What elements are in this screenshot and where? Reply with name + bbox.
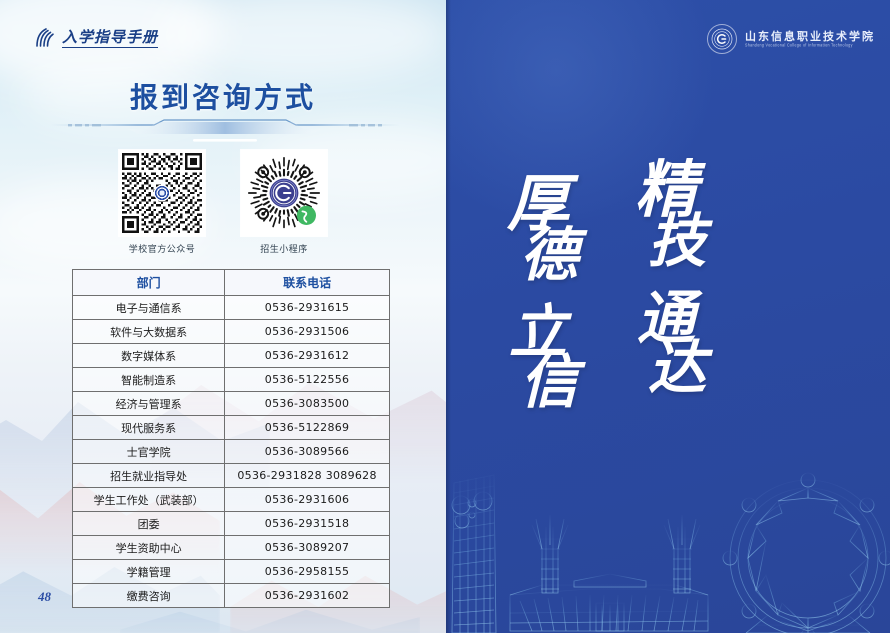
motto-column-right: 厚 德 立 信 — [498, 174, 578, 411]
university-seal-icon — [707, 24, 737, 54]
cell-phone: 0536-2931612 — [225, 344, 390, 368]
table-row: 团委0536-2931518 — [73, 512, 390, 536]
spire-tower-left — [532, 515, 568, 593]
left-tower — [452, 473, 496, 633]
university-logo: 山东信息职业技术学院 Shandong Vocational College o… — [707, 24, 875, 54]
cell-department: 团委 — [73, 512, 225, 536]
table-row: 学生资助中心0536-3089207 — [73, 536, 390, 560]
motto-char: 技 — [648, 214, 706, 270]
cell-phone: 0536-2931606 — [225, 488, 390, 512]
qr-caption: 学校官方公众号 — [129, 242, 196, 255]
page-title: 报到咨询方式 — [0, 76, 446, 116]
column-header-department: 部门 — [73, 270, 225, 296]
cell-phone: 0536-5122869 — [225, 416, 390, 440]
cell-phone: 0536-2931506 — [225, 320, 390, 344]
motto-char: 达 — [648, 341, 706, 397]
table-row: 士官学院0536-3089566 — [73, 440, 390, 464]
cell-phone: 0536-3089207 — [225, 536, 390, 560]
manual-logo: 入学指导手册 — [34, 28, 158, 48]
cell-phone: 0536-3089566 — [225, 440, 390, 464]
cell-department: 现代服务系 — [73, 416, 225, 440]
seal-mark — [711, 28, 733, 50]
school-motto: 厚 德 立 信 精 技 通 达 — [446, 160, 890, 490]
qr-matrix — [122, 153, 202, 233]
cell-department: 学生资助中心 — [73, 536, 225, 560]
manual-logo-label: 入学指导手册 — [62, 31, 158, 48]
cell-department: 学籍管理 — [73, 560, 225, 584]
university-name-block: 山东信息职业技术学院 Shandong Vocational College o… — [745, 31, 875, 48]
mini-program-radial — [244, 153, 324, 233]
qr-item-mini-program[interactable]: 招生小程序 — [241, 150, 327, 255]
table-row: 电子与通信系0536-2931615 — [73, 296, 390, 320]
right-page: 山东信息职业技术学院 Shandong Vocational College o… — [446, 0, 890, 633]
column-header-phone: 联系电话 — [225, 270, 390, 296]
spire-tower-right — [664, 515, 700, 593]
table-row: 经济与管理系0536-3083500 — [73, 392, 390, 416]
cell-phone: 0536-3083500 — [225, 392, 390, 416]
table-row: 缴费咨询0536-2931602 — [73, 584, 390, 608]
cell-department: 士官学院 — [73, 440, 225, 464]
signal-swoosh-icon — [34, 28, 58, 48]
motto-char: 信 — [520, 355, 578, 411]
contact-table: 部门 联系电话 电子与通信系0536-2931615软件与大数据系0536-29… — [72, 269, 390, 608]
cell-department: 电子与通信系 — [73, 296, 225, 320]
university-name-cn: 山东信息职业技术学院 — [745, 31, 875, 42]
qr-code-icon[interactable] — [119, 150, 205, 236]
cell-department: 学生工作处（武装部） — [73, 488, 225, 512]
cell-department: 招生就业指导处 — [73, 464, 225, 488]
motto-column-left: 精 技 通 达 — [626, 160, 706, 397]
cell-phone: 0536-2931602 — [225, 584, 390, 608]
table-row: 软件与大数据系0536-2931506 — [73, 320, 390, 344]
brochure-spread: 入学指导手册 报到咨询方式 — [0, 0, 890, 633]
cell-department: 软件与大数据系 — [73, 320, 225, 344]
cell-phone: 0536-2931518 — [225, 512, 390, 536]
cell-phone: 0536-5122556 — [225, 368, 390, 392]
cell-department: 经济与管理系 — [73, 392, 225, 416]
qr-caption: 招生小程序 — [260, 242, 308, 255]
ferris-wheel — [723, 473, 890, 633]
table-body: 电子与通信系0536-2931615软件与大数据系0536-2931506数字媒… — [73, 296, 390, 608]
left-page: 入学指导手册 报到咨询方式 — [0, 0, 446, 633]
cloud-decoration — [150, 0, 446, 80]
cell-department: 缴费咨询 — [73, 584, 225, 608]
mini-program-qr-icon[interactable] — [241, 150, 327, 236]
table-row: 现代服务系0536-5122869 — [73, 416, 390, 440]
qr-item-official-account[interactable]: 学校官方公众号 — [119, 150, 205, 255]
cell-phone: 0536-2931615 — [225, 296, 390, 320]
table-row: 学籍管理0536-2958155 — [73, 560, 390, 584]
page-number: 48 — [38, 589, 51, 605]
cell-department: 数字媒体系 — [73, 344, 225, 368]
university-name-en: Shandong Vocational College of Informati… — [745, 44, 875, 48]
city-skyline-lineart — [446, 453, 890, 633]
table-row: 学生工作处（武装部）0536-2931606 — [73, 488, 390, 512]
table-header-row: 部门 联系电话 — [73, 270, 390, 296]
table-row: 智能制造系0536-5122556 — [73, 368, 390, 392]
cell-phone: 0536-2958155 — [225, 560, 390, 584]
page-fold-shadow — [446, 0, 451, 633]
motto-char: 德 — [520, 228, 578, 284]
cell-phone: 0536-2931828 3089628 — [225, 464, 390, 488]
decorative-divider — [50, 118, 400, 144]
cell-department: 智能制造系 — [73, 368, 225, 392]
table-row: 招生就业指导处0536-2931828 3089628 — [73, 464, 390, 488]
table-row: 数字媒体系0536-2931612 — [73, 344, 390, 368]
qr-code-row: 学校官方公众号 — [0, 150, 446, 255]
